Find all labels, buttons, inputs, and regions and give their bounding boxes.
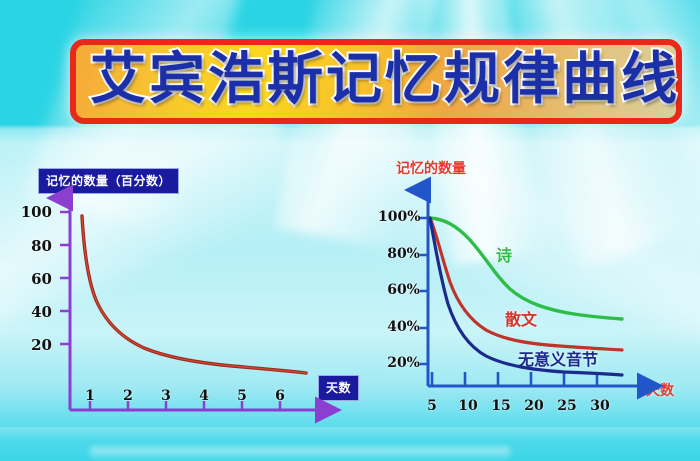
right-chart-plot (378, 158, 688, 426)
bottom-band (0, 427, 700, 461)
series-line-retention (82, 216, 306, 373)
title-banner: 艾宾浩斯记忆规律曲线 (70, 39, 682, 124)
left-chart-plot (18, 160, 348, 425)
series-line-retention-highlight (82, 216, 306, 373)
chart-material-type-curves: 记忆的数量 天数 100% 80% 60% 40% 20% 5 10 15 20… (378, 158, 688, 426)
page-title: 艾宾浩斯记忆规律曲线 (90, 43, 680, 117)
chart-forgetting-curve-days: 记忆的数量（百分数） 天数 100 80 60 40 20 1 2 3 4 5 … (18, 160, 348, 425)
poster-canvas: 艾宾浩斯记忆规律曲线 记忆的数量（百分数） 天数 100 80 60 40 20… (0, 0, 700, 461)
x-tick-marks (432, 372, 597, 386)
series-line-nonsense-syllables (430, 218, 622, 375)
